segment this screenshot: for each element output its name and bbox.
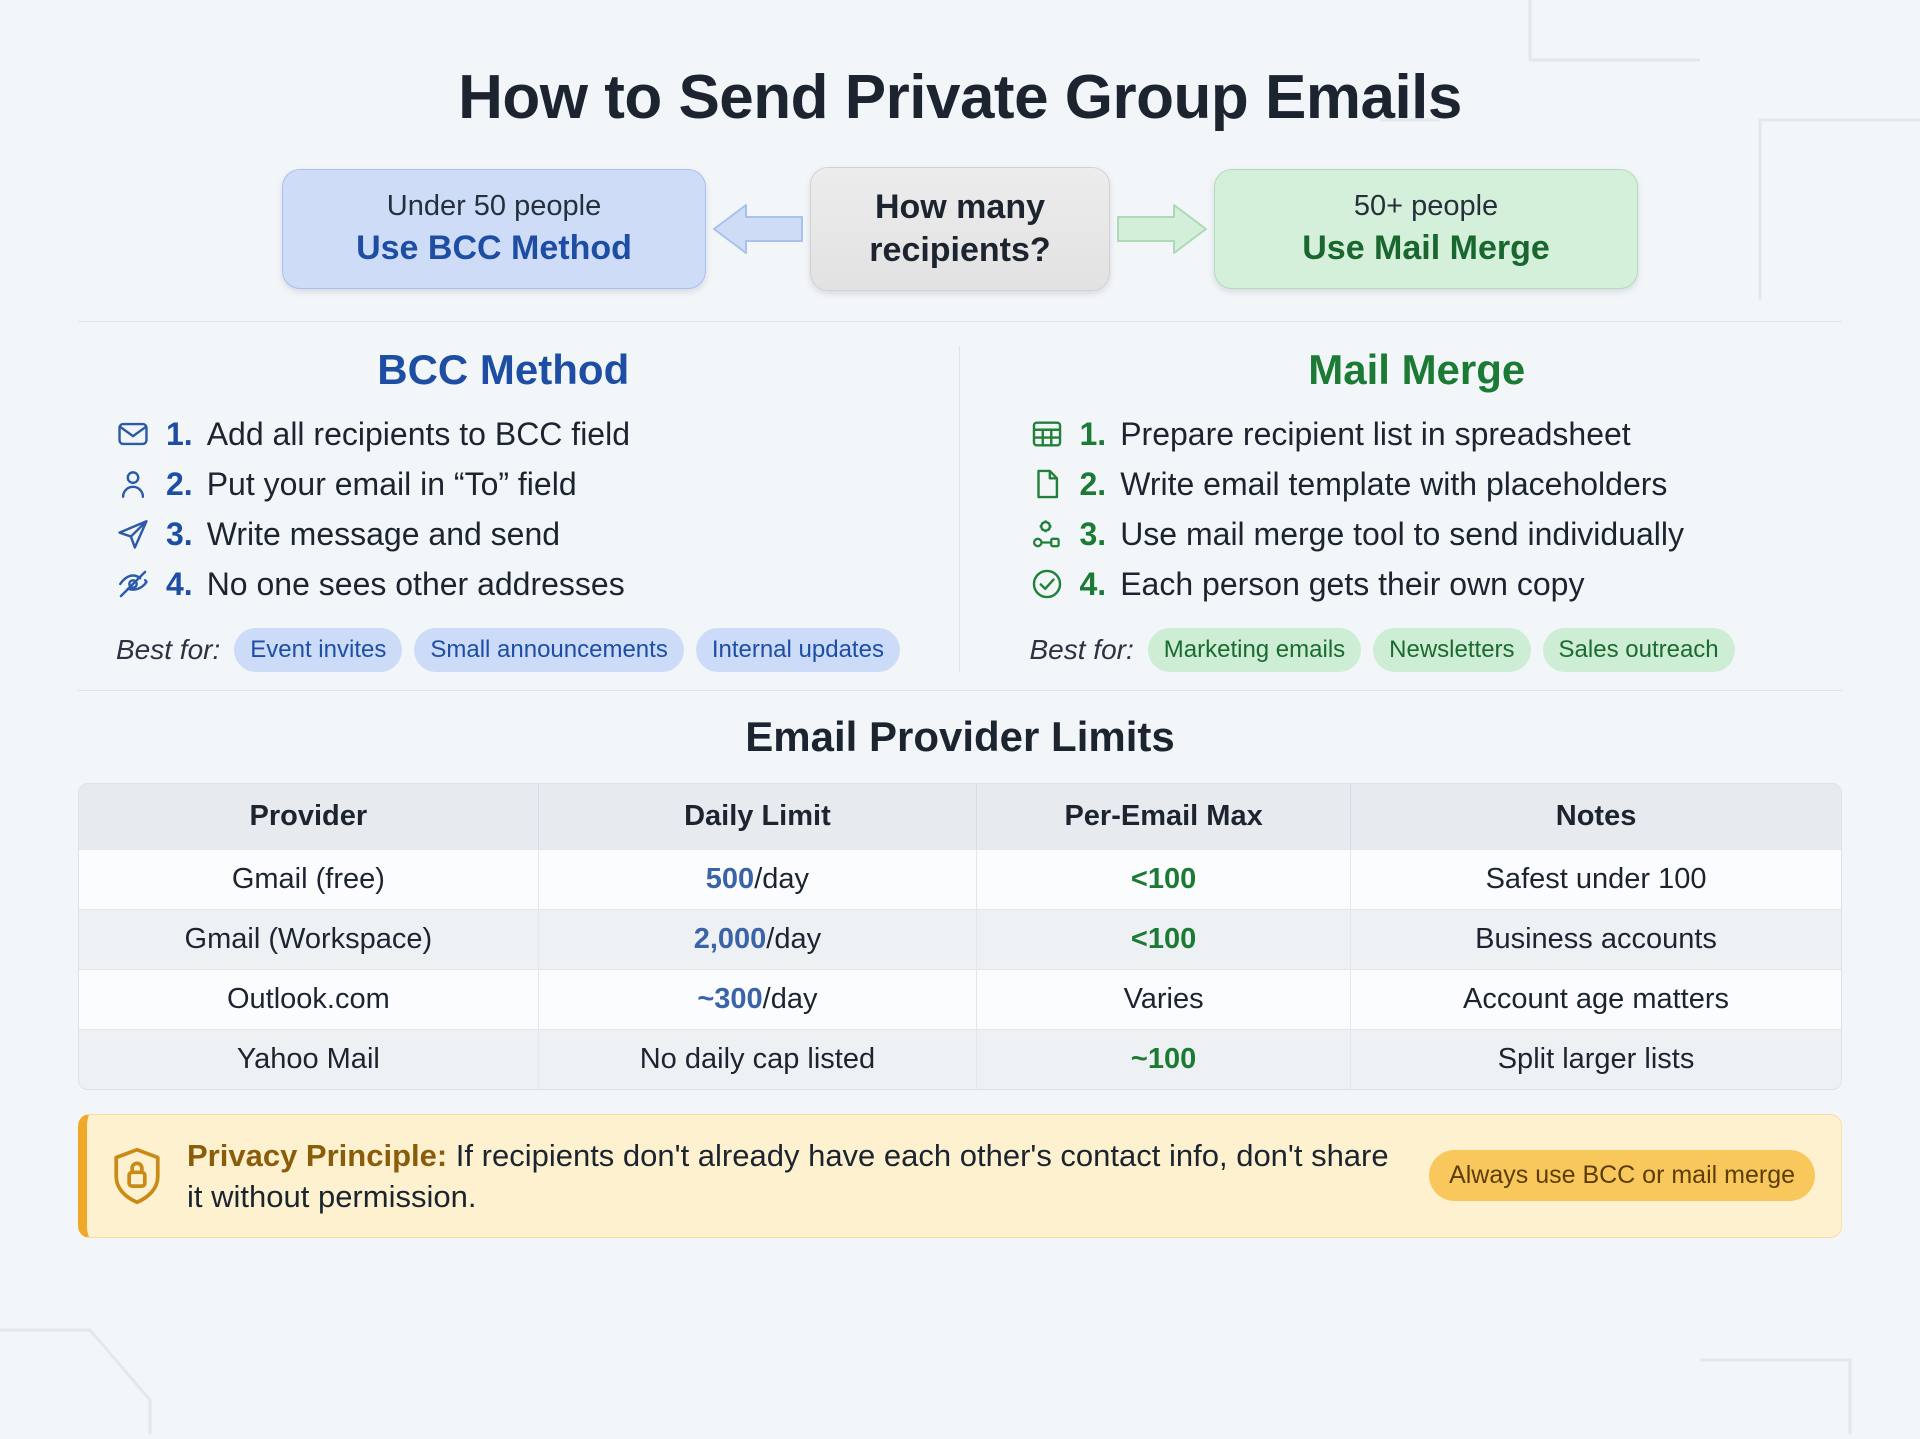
table-row: Gmail (Workspace) 2,000/day <100 Busines… bbox=[79, 909, 1841, 969]
per-email-value: Varies bbox=[1124, 983, 1204, 1015]
cell-notes: Business accounts bbox=[1351, 909, 1841, 969]
flow-bcc-condition: Under 50 people bbox=[309, 188, 679, 225]
step-number: 3. bbox=[166, 516, 193, 553]
column-header-daily-limit: Daily Limit bbox=[539, 784, 977, 849]
cell-provider: Gmail (Workspace) bbox=[79, 909, 539, 969]
table-row: Gmail (free) 500/day <100 Safest under 1… bbox=[79, 849, 1841, 909]
step-item: 3. Use mail merge tool to send individua… bbox=[1002, 510, 1833, 560]
method-mail-merge: Mail Merge 1. Prepare recipient list in … bbox=[959, 346, 1843, 672]
send-icon bbox=[116, 516, 152, 552]
document-icon bbox=[1030, 466, 1066, 502]
check-circle-icon bbox=[1030, 566, 1066, 602]
shield-lock-icon bbox=[109, 1146, 165, 1206]
envelope-icon bbox=[116, 416, 152, 452]
flow-bcc-action: Use BCC Method bbox=[309, 227, 679, 270]
flow-box-question: How many recipients? bbox=[810, 167, 1110, 291]
table-row: Outlook.com ~300/day Varies Account age … bbox=[79, 969, 1841, 1029]
bestfor-label: Best for: bbox=[1030, 634, 1134, 666]
column-header-notes: Notes bbox=[1351, 784, 1841, 849]
column-header-per-email-max: Per-Email Max bbox=[977, 784, 1351, 849]
person-icon bbox=[116, 466, 152, 502]
arrow-right-icon bbox=[1110, 197, 1214, 261]
cell-provider: Outlook.com bbox=[79, 969, 539, 1029]
step-item: 2. Put your email in “To” field bbox=[88, 460, 919, 510]
step-text: Write message and send bbox=[207, 516, 560, 553]
step-text: No one sees other addresses bbox=[207, 566, 625, 603]
per-email-value: <100 bbox=[1131, 923, 1196, 955]
privacy-callout-pill[interactable]: Always use BCC or mail merge bbox=[1429, 1150, 1815, 1201]
infographic-page: How to Send Private Group Emails Under 5… bbox=[0, 0, 1920, 1434]
daily-limit-suffix: /day bbox=[763, 983, 818, 1015]
step-number: 2. bbox=[166, 466, 193, 503]
flow-box-bcc: Under 50 people Use BCC Method bbox=[282, 169, 706, 288]
table-header-row: Provider Daily Limit Per-Email Max Notes bbox=[79, 784, 1841, 849]
chip-small-announcements[interactable]: Small announcements bbox=[414, 628, 683, 672]
cell-per-email-max: ~100 bbox=[977, 1029, 1351, 1089]
step-item: 4. No one sees other addresses bbox=[88, 560, 919, 610]
per-email-value: ~100 bbox=[1131, 1043, 1196, 1075]
step-text: Add all recipients to BCC field bbox=[207, 416, 630, 453]
cell-provider: Gmail (free) bbox=[79, 849, 539, 909]
step-text: Prepare recipient list in spreadsheet bbox=[1120, 416, 1631, 453]
method-bcc: BCC Method 1. Add all recipients to BCC … bbox=[78, 346, 959, 672]
step-number: 4. bbox=[166, 566, 193, 603]
page-title: How to Send Private Group Emails bbox=[78, 62, 1842, 133]
cell-daily-limit: No daily cap listed bbox=[539, 1029, 977, 1089]
table-row: Yahoo Mail No daily cap listed ~100 Spli… bbox=[79, 1029, 1841, 1089]
cell-notes: Account age matters bbox=[1351, 969, 1841, 1029]
chip-newsletters[interactable]: Newsletters bbox=[1373, 628, 1530, 672]
step-number: 3. bbox=[1080, 516, 1107, 553]
cell-provider: Yahoo Mail bbox=[79, 1029, 539, 1089]
per-email-value: <100 bbox=[1131, 863, 1196, 895]
step-number: 1. bbox=[1080, 416, 1107, 453]
cell-per-email-max: <100 bbox=[977, 849, 1351, 909]
column-header-provider: Provider bbox=[79, 784, 539, 849]
arrow-left-icon bbox=[706, 197, 810, 261]
chip-event-invites[interactable]: Event invites bbox=[234, 628, 402, 672]
step-item: 1. Add all recipients to BCC field bbox=[88, 410, 919, 460]
flow-box-mailmerge: 50+ people Use Mail Merge bbox=[1214, 169, 1638, 288]
flow-mailmerge-condition: 50+ people bbox=[1241, 188, 1611, 225]
privacy-callout: Privacy Principle: If recipients don't a… bbox=[78, 1114, 1842, 1238]
privacy-callout-text: Privacy Principle: If recipients don't a… bbox=[187, 1135, 1407, 1217]
methods-section: BCC Method 1. Add all recipients to BCC … bbox=[78, 322, 1842, 690]
cell-notes: Safest under 100 bbox=[1351, 849, 1841, 909]
chip-internal-updates[interactable]: Internal updates bbox=[696, 628, 900, 672]
step-text: Each person gets their own copy bbox=[1120, 566, 1584, 603]
step-item: 3. Write message and send bbox=[88, 510, 919, 560]
flow-mailmerge-action: Use Mail Merge bbox=[1241, 227, 1611, 270]
spreadsheet-icon bbox=[1030, 416, 1066, 452]
chip-marketing-emails[interactable]: Marketing emails bbox=[1148, 628, 1361, 672]
daily-limit-value: 500 bbox=[706, 863, 754, 895]
chip-sales-outreach[interactable]: Sales outreach bbox=[1543, 628, 1735, 672]
method-bcc-steps: 1. Add all recipients to BCC field 2. Pu… bbox=[88, 410, 919, 610]
provider-limits-table: Provider Daily Limit Per-Email Max Notes… bbox=[78, 783, 1842, 1090]
bestfor-label: Best for: bbox=[116, 634, 220, 666]
step-item: 2. Write email template with placeholder… bbox=[1002, 460, 1833, 510]
method-mailmerge-steps: 1. Prepare recipient list in spreadsheet… bbox=[1002, 410, 1833, 610]
cell-notes: Split larger lists bbox=[1351, 1029, 1841, 1089]
table-title: Email Provider Limits bbox=[78, 713, 1842, 761]
daily-limit-suffix: /day bbox=[754, 863, 809, 895]
step-number: 4. bbox=[1080, 566, 1107, 603]
step-item: 4. Each person gets their own copy bbox=[1002, 560, 1833, 610]
divider-bottom bbox=[78, 690, 1842, 691]
step-text: Use mail merge tool to send individually bbox=[1120, 516, 1684, 553]
step-item: 1. Prepare recipient list in spreadsheet bbox=[1002, 410, 1833, 460]
step-text: Write email template with placeholders bbox=[1120, 466, 1667, 503]
flow-question-line2: recipients? bbox=[837, 229, 1083, 272]
method-bcc-title: BCC Method bbox=[88, 346, 919, 394]
flow-question-line1: How many bbox=[837, 186, 1083, 229]
cell-daily-limit: 500/day bbox=[539, 849, 977, 909]
cell-daily-limit: 2,000/day bbox=[539, 909, 977, 969]
step-number: 2. bbox=[1080, 466, 1107, 503]
step-number: 1. bbox=[166, 416, 193, 453]
eye-off-icon bbox=[116, 566, 152, 602]
method-mailmerge-title: Mail Merge bbox=[1002, 346, 1833, 394]
method-bcc-bestfor: Best for: Event invites Small announceme… bbox=[88, 628, 919, 672]
workflow-gear-icon bbox=[1030, 516, 1066, 552]
cell-per-email-max: <100 bbox=[977, 909, 1351, 969]
step-text: Put your email in “To” field bbox=[207, 466, 577, 503]
daily-limit-value: 2,000 bbox=[694, 923, 767, 955]
cell-per-email-max: Varies bbox=[977, 969, 1351, 1029]
daily-limit-suffix: /day bbox=[766, 923, 821, 955]
daily-limit-suffix: No daily cap listed bbox=[640, 1043, 875, 1075]
decision-flow: Under 50 people Use BCC Method How many … bbox=[78, 167, 1842, 291]
cell-daily-limit: ~300/day bbox=[539, 969, 977, 1029]
daily-limit-value: ~300 bbox=[697, 983, 762, 1015]
privacy-callout-lead: Privacy Principle: bbox=[187, 1138, 447, 1173]
method-mailmerge-bestfor: Best for: Marketing emails Newsletters S… bbox=[1002, 628, 1833, 672]
